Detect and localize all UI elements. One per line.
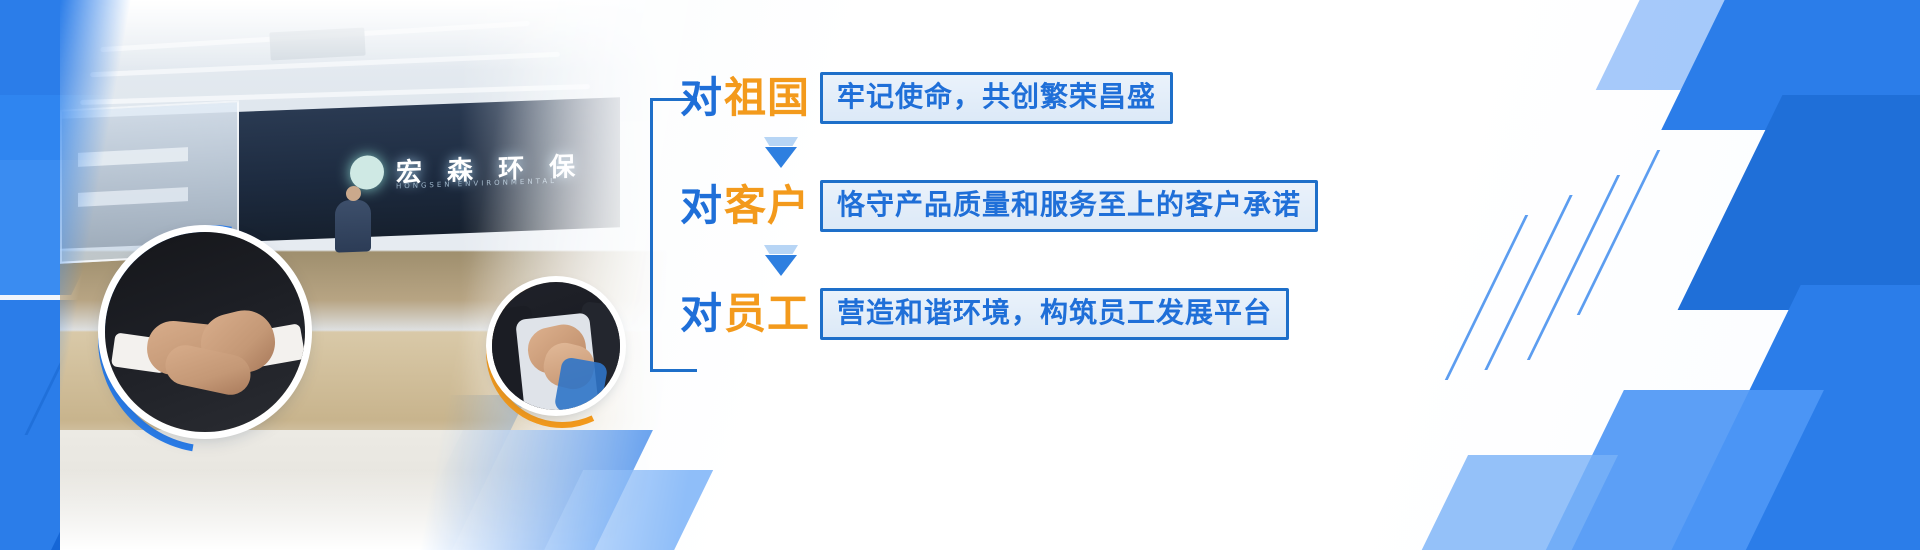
slogan-prefix-customer: 对 <box>680 185 722 227</box>
slogan-key-employee: 员工 <box>724 293 810 335</box>
chevron-top-part <box>764 245 798 254</box>
company-logo-icon <box>350 154 384 189</box>
slogan-divider-1 <box>680 126 1440 178</box>
decor-line-right-2 <box>1484 195 1572 370</box>
slogan-group: 对 祖国 牢记使命，共创繁荣昌盛 对 客户 恪守产品质量和服务至上的客户承诺 <box>650 70 1430 400</box>
slogan-prefix-country: 对 <box>680 77 722 119</box>
slogan-key-country: 祖国 <box>724 77 810 119</box>
chevron-bottom-part <box>765 147 797 168</box>
promotional-banner: 宏 森 环 保 HONGSEN ENVIRONMENTAL <box>0 0 1920 550</box>
decor-line-right-1 <box>1527 175 1620 360</box>
slogan-tag-country: 牢记使命，共创繁荣昌盛 <box>820 72 1173 125</box>
decor-line-right-3 <box>1445 215 1528 380</box>
slogan-divider-2 <box>680 234 1440 286</box>
handshake-photo <box>105 232 305 432</box>
reception-staff <box>335 199 371 252</box>
chevron-top-part <box>764 137 798 146</box>
slogan-row-customer: 对 客户 恪守产品质量和服务至上的客户承诺 <box>680 178 1440 234</box>
slogan-rows: 对 祖国 牢记使命，共创繁荣昌盛 对 客户 恪守产品质量和服务至上的客户承诺 <box>680 70 1440 342</box>
slogan-tag-employee: 营造和谐环境，构筑员工发展平台 <box>820 288 1289 341</box>
slogan-row-country: 对 祖国 牢记使命，共创繁荣昌盛 <box>680 70 1440 126</box>
slogan-prefix-employee: 对 <box>680 293 722 335</box>
blue-sleeve <box>554 356 609 410</box>
slogan-key-customer: 客户 <box>724 185 810 227</box>
chevron-down-icon <box>764 245 798 275</box>
slogan-row-employee: 对 员工 营造和谐环境，构筑员工发展平台 <box>680 286 1440 342</box>
chevron-bottom-part <box>765 255 797 276</box>
slogan-tag-customer: 恪守产品质量和服务至上的客户承诺 <box>820 180 1318 233</box>
chevron-down-icon <box>764 137 798 167</box>
applause-photo <box>492 282 620 410</box>
